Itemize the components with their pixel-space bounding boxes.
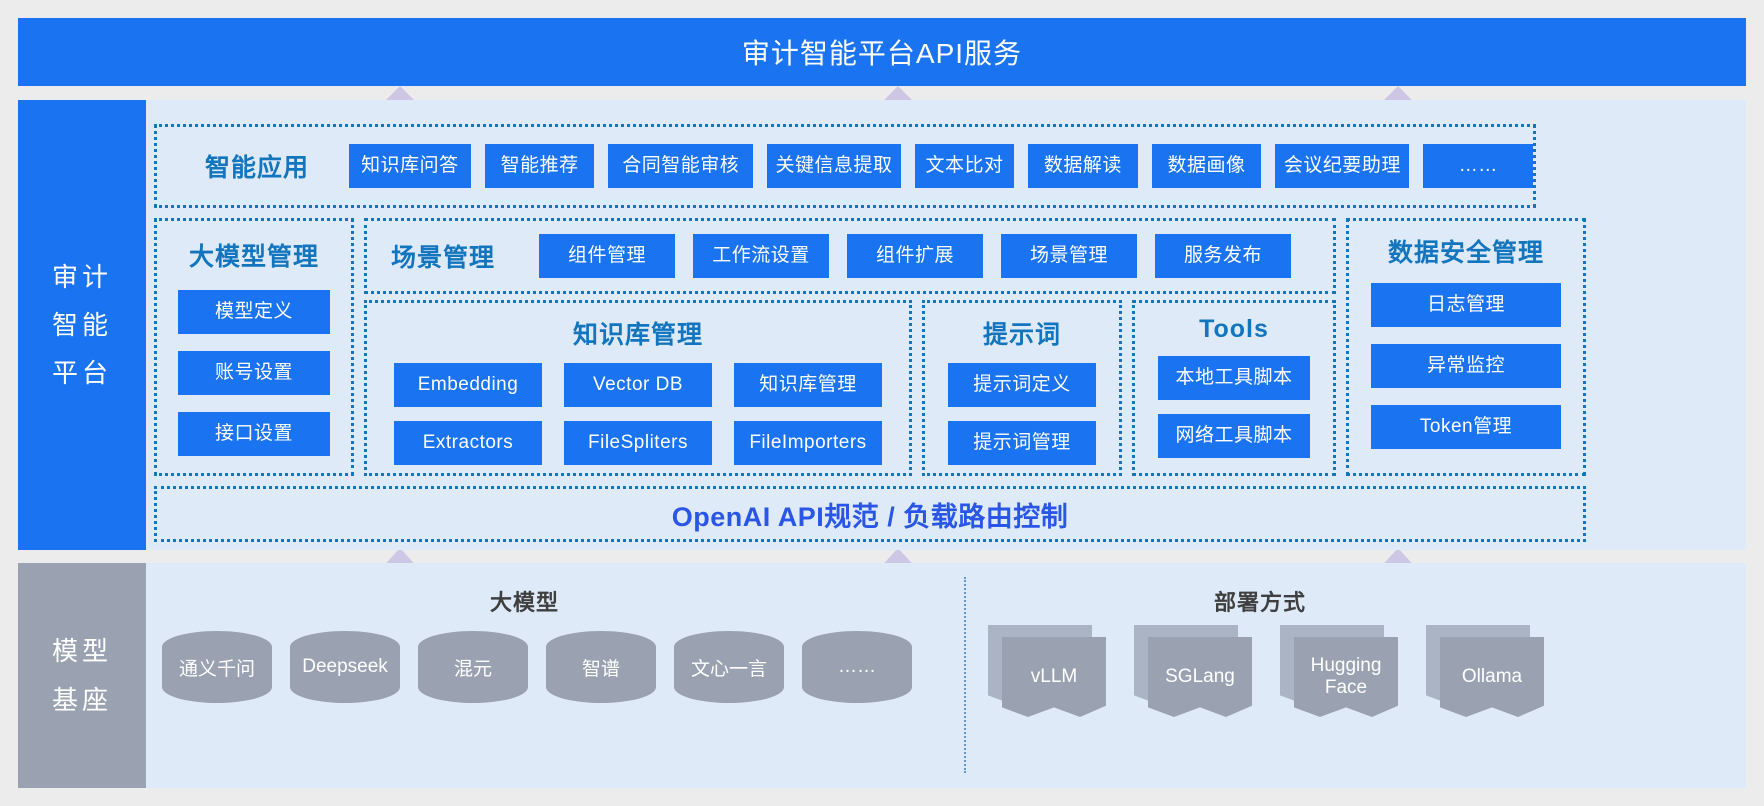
deployment-doc-row: vLLM SGLang Hugging Face Ollama	[988, 625, 1544, 717]
model-cylinder-row: 通义千问 Deepseek 混元 智谱 文心一言 ……	[162, 631, 912, 703]
big-model-chip-model-definition[interactable]: 模型定义	[178, 290, 330, 334]
platform-panel: 智能应用 知识库问答 智能推荐 合同智能审核 关键信息提取 文本比对 数据解读 …	[146, 100, 1746, 550]
sidebar-platform-line-2: 智能	[52, 301, 112, 349]
deployment-card-huggingface[interactable]: Hugging Face	[1280, 625, 1398, 717]
deployment-card-vllm-label: vLLM	[1002, 637, 1106, 717]
section-title-scene-management: 场景管理	[391, 238, 495, 274]
bottom-section-divider	[964, 577, 966, 773]
bottom-title-models: 大模型	[490, 585, 559, 617]
prompt-chip-management[interactable]: 提示词管理	[948, 421, 1096, 465]
sidebar-platform-line-3: 平台	[52, 349, 112, 397]
section-intelligent-apps: 智能应用 知识库问答 智能推荐 合同智能审核 关键信息提取 文本比对 数据解读 …	[154, 124, 1536, 208]
model-cylinder-more[interactable]: ……	[802, 631, 912, 703]
prompt-chip-definition[interactable]: 提示词定义	[948, 363, 1096, 407]
section-tools: Tools 本地工具脚本 网络工具脚本	[1132, 300, 1336, 476]
deployment-card-ollama-label: Ollama	[1440, 637, 1544, 717]
sidebar-model-base-line-1: 模型	[52, 627, 112, 675]
tools-chip-network-script[interactable]: 网络工具脚本	[1158, 414, 1310, 458]
kb-chip-embedding[interactable]: Embedding	[394, 363, 542, 407]
section-knowledge-base-management: 知识库管理 Embedding Vector DB 知识库管理 Extracto…	[364, 300, 912, 476]
section-scene-management: 场景管理 组件管理 工作流设置 组件扩展 场景管理 服务发布	[364, 218, 1336, 294]
model-cylinder-tongyi[interactable]: 通义千问	[162, 631, 272, 703]
kb-chip-vector-db[interactable]: Vector DB	[564, 363, 712, 407]
section-openai-api-routing: OpenAI API规范 / 负载路由控制	[154, 486, 1586, 542]
section-big-model-management: 大模型管理 模型定义 账号设置 接口设置	[154, 218, 354, 476]
big-model-chip-api-settings[interactable]: 接口设置	[178, 412, 330, 456]
app-chip-kb-qa[interactable]: 知识库问答	[349, 144, 471, 188]
security-chip-exception-monitor[interactable]: 异常监控	[1371, 344, 1561, 388]
deployment-card-vllm[interactable]: vLLM	[988, 625, 1106, 717]
security-chip-token-management[interactable]: Token管理	[1371, 405, 1561, 449]
scene-chip-component-management[interactable]: 组件管理	[539, 234, 675, 278]
app-chip-text-compare[interactable]: 文本比对	[915, 144, 1014, 188]
section-title-knowledge-base-management: 知识库管理	[367, 315, 909, 351]
section-prompt: 提示词 提示词定义 提示词管理	[922, 300, 1122, 476]
model-cylinder-zhipu[interactable]: 智谱	[546, 631, 656, 703]
bottom-title-deployment: 部署方式	[1214, 585, 1306, 617]
deployment-card-sglang[interactable]: SGLang	[1134, 625, 1252, 717]
app-chip-contract-review[interactable]: 合同智能审核	[608, 144, 752, 188]
scene-chip-component-extension[interactable]: 组件扩展	[847, 234, 983, 278]
section-title-big-model-management: 大模型管理	[189, 237, 319, 273]
deployment-card-huggingface-label: Hugging Face	[1294, 637, 1398, 717]
scene-chip-scene-management[interactable]: 场景管理	[1001, 234, 1137, 278]
deployment-card-ollama[interactable]: Ollama	[1426, 625, 1544, 717]
scene-chip-service-publish[interactable]: 服务发布	[1155, 234, 1291, 278]
app-chip-data-interpret[interactable]: 数据解读	[1028, 144, 1138, 188]
model-cylinder-wenxin[interactable]: 文心一言	[674, 631, 784, 703]
section-data-security-management: 数据安全管理 日志管理 异常监控 Token管理	[1346, 218, 1586, 476]
kb-chip-file-importers[interactable]: FileImporters	[734, 421, 882, 465]
sidebar-model-base-line-2: 基座	[52, 676, 112, 724]
big-model-chip-account-settings[interactable]: 账号设置	[178, 351, 330, 395]
kb-chip-file-splitters[interactable]: FileSpliters	[564, 421, 712, 465]
sidebar-model-base-label: 模型 基座	[18, 563, 146, 788]
app-chip-more[interactable]: ……	[1423, 144, 1533, 188]
model-cylinder-deepseek[interactable]: Deepseek	[290, 631, 400, 703]
api-service-title: 审计智能平台API服务	[742, 32, 1022, 72]
openai-api-routing-label: OpenAI API规范 / 负载路由控制	[672, 495, 1069, 534]
tools-chip-local-script[interactable]: 本地工具脚本	[1158, 356, 1310, 400]
section-title-prompt: 提示词	[925, 315, 1119, 351]
sidebar-platform-label: 审计 智能 平台	[18, 100, 146, 550]
deployment-card-sglang-label: SGLang	[1148, 637, 1252, 717]
api-service-bar: 审计智能平台API服务	[18, 18, 1746, 86]
app-chip-key-info-extract[interactable]: 关键信息提取	[767, 144, 901, 188]
diagram-canvas: 审计智能平台API服务 审计 智能 平台 模型 基座 智能应用	[0, 0, 1764, 806]
kb-chip-knowledge-base-management[interactable]: 知识库管理	[734, 363, 882, 407]
scene-chip-workflow-settings[interactable]: 工作流设置	[693, 234, 829, 278]
kb-chip-extractors[interactable]: Extractors	[394, 421, 542, 465]
model-cylinder-hunyuan[interactable]: 混元	[418, 631, 528, 703]
app-chip-smart-recommend[interactable]: 智能推荐	[485, 144, 595, 188]
section-title-intelligent-apps: 智能应用	[205, 148, 309, 184]
section-title-tools: Tools	[1135, 315, 1333, 344]
model-base-panel: 大模型 通义千问 Deepseek 混元 智谱 文心一言 …… 部署方式 vLL…	[146, 563, 1746, 788]
sidebar-platform-line-1: 审计	[52, 253, 112, 301]
section-title-data-security-management: 数据安全管理	[1349, 233, 1583, 269]
security-chip-log-management[interactable]: 日志管理	[1371, 283, 1561, 327]
app-chip-meeting-minutes[interactable]: 会议纪要助理	[1275, 144, 1409, 188]
app-chip-data-portrait[interactable]: 数据画像	[1152, 144, 1262, 188]
